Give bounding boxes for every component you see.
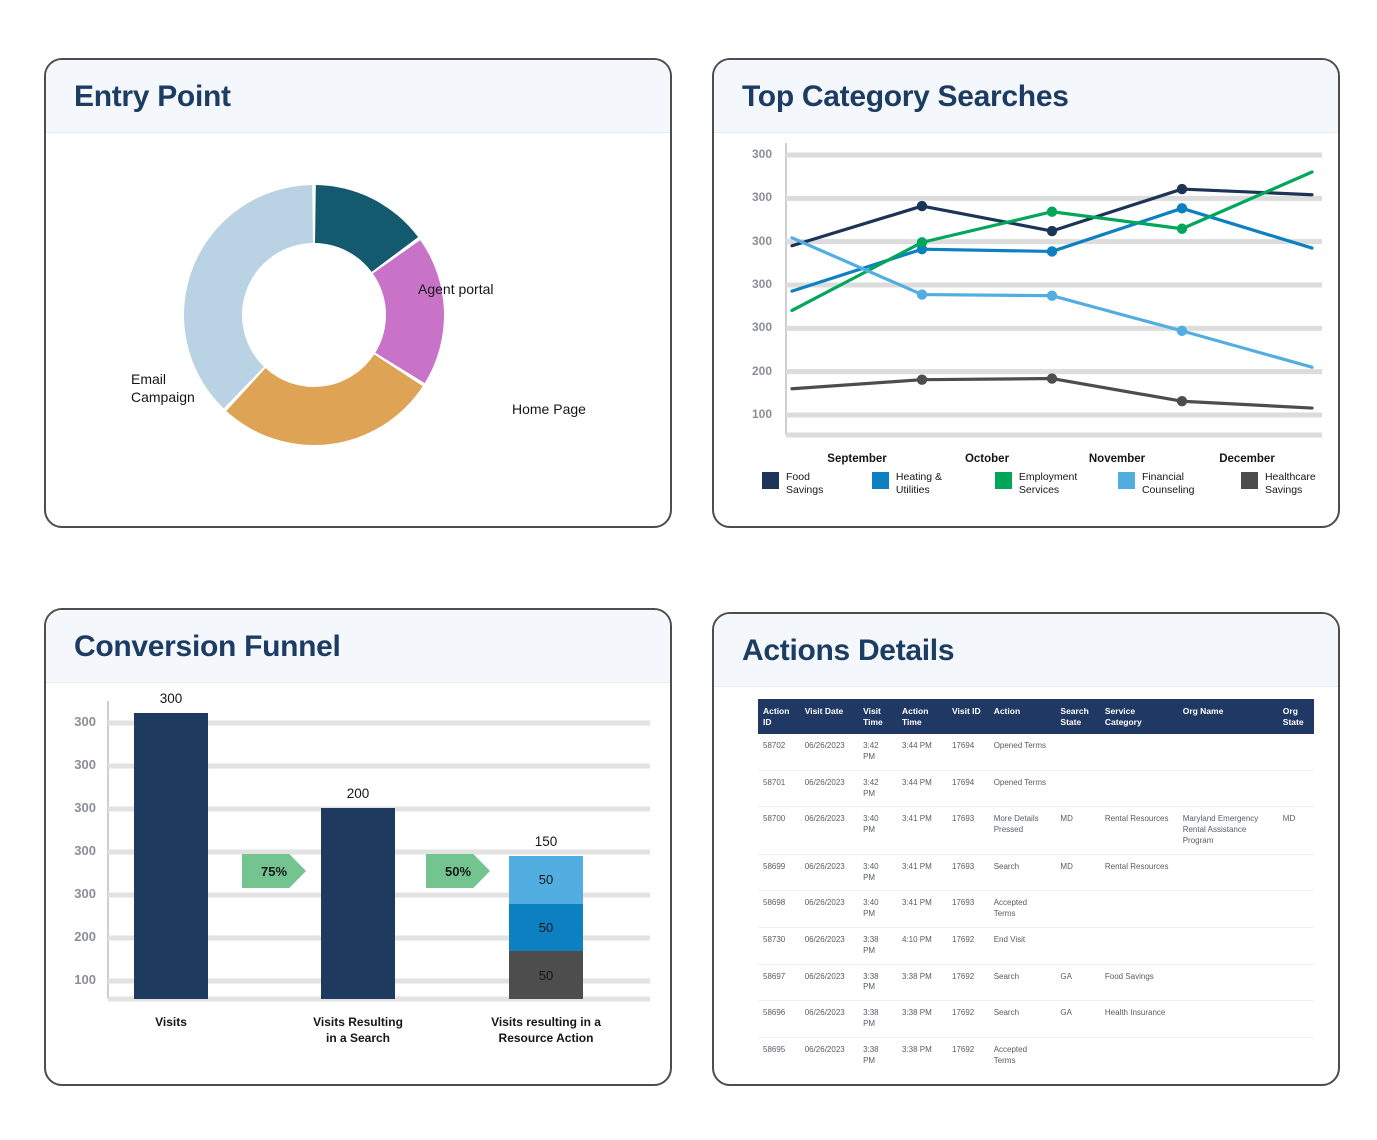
line-chart-y-tick: 300	[738, 320, 772, 334]
legend-item-healthcare-savings[interactable]: Healthcare Savings	[1241, 471, 1338, 496]
line-chart-y-tick: 300	[738, 277, 772, 291]
legend-label: Food Savings	[786, 471, 846, 496]
table-column-header[interactable]: Action	[989, 699, 1056, 734]
table-row[interactable]: 5869906/26/20233:40 PM3:41 PM17693Search…	[758, 854, 1314, 891]
card-header-actions: Actions Details	[714, 614, 1338, 687]
line-chart-y-tick: 300	[738, 190, 772, 204]
data-point[interactable]	[1177, 224, 1187, 234]
table-cell: 06/26/2023	[800, 1001, 858, 1038]
table-column-header[interactable]: Action Time	[897, 699, 947, 734]
table-cell	[1178, 891, 1278, 928]
table-cell: 06/26/2023	[800, 770, 858, 807]
table-cell: MD	[1055, 807, 1099, 854]
card-top-category-searches: Top Category Searches 300300300300300200…	[712, 58, 1340, 528]
table-cell: 17692	[947, 928, 989, 965]
data-point[interactable]	[1177, 184, 1187, 194]
table-cell: 3:38 PM	[897, 1037, 947, 1067]
funnel-bar-visits[interactable]	[134, 713, 208, 999]
funnel-stack-segment[interactable]: 50	[509, 856, 583, 904]
table-column-header[interactable]: Service Category	[1100, 699, 1178, 734]
page-title-top-category: Top Category Searches	[742, 80, 1310, 114]
page-title-entry-point: Entry Point	[74, 80, 642, 114]
funnel-y-tick: 100	[60, 972, 96, 987]
table-cell	[1100, 734, 1178, 770]
legend-item-food-savings[interactable]: Food Savings	[762, 471, 846, 496]
funnel-bar-visits-with-search[interactable]	[321, 808, 395, 999]
table-cell: MD	[1278, 807, 1314, 854]
legend-label: Employment Services	[1019, 471, 1092, 496]
top-category-line-chart: 300300300300300200100 SeptemberOctoberNo…	[714, 133, 1338, 513]
table-cell: 3:42 PM	[858, 734, 897, 770]
table-cell: 3:38 PM	[858, 1001, 897, 1038]
funnel-y-tick: 300	[60, 886, 96, 901]
funnel-y-tick: 300	[60, 757, 96, 772]
table-cell: 3:40 PM	[858, 891, 897, 928]
table-cell: 17692	[947, 1037, 989, 1067]
table-cell: 17693	[947, 854, 989, 891]
legend-swatch	[1118, 472, 1135, 489]
funnel-y-tick: 300	[60, 714, 96, 729]
table-row[interactable]: 5869606/26/20233:38 PM3:38 PM17692Search…	[758, 1001, 1314, 1038]
data-point[interactable]	[1047, 226, 1057, 236]
analytics-dashboard: Entry Point Agent portal Home Page Resou…	[0, 0, 1377, 1140]
data-point[interactable]	[1047, 291, 1057, 301]
card-entry-point: Entry Point Agent portal Home Page Resou…	[44, 58, 672, 528]
table-cell: 06/26/2023	[800, 1037, 858, 1067]
table-cell: Rental Resources	[1100, 807, 1178, 854]
line-chart-y-tick: 300	[738, 234, 772, 248]
table-cell: 58702	[758, 734, 800, 770]
table-cell	[1178, 854, 1278, 891]
data-point[interactable]	[1177, 396, 1187, 406]
line-series-financial-counseling[interactable]	[792, 238, 1312, 367]
table-cell: Search	[989, 854, 1056, 891]
legend-swatch	[762, 472, 779, 489]
table-cell	[1055, 891, 1099, 928]
legend-label: Healthcare Savings	[1265, 471, 1338, 496]
table-cell: Accepted Terms	[989, 1037, 1056, 1067]
table-cell	[1178, 964, 1278, 1001]
table-cell: 17693	[947, 891, 989, 928]
table-cell	[1178, 1001, 1278, 1038]
table-cell: End Visit	[989, 928, 1056, 965]
data-point[interactable]	[1047, 207, 1057, 217]
donut-svg	[46, 133, 670, 511]
table-cell: 06/26/2023	[800, 964, 858, 1001]
card-body-funnel: 300300300300300200100 30020015050505075%…	[46, 683, 670, 1073]
table-cell	[1178, 734, 1278, 770]
table-cell: 17692	[947, 1001, 989, 1038]
card-conversion-funnel: Conversion Funnel 300300300300300200100 …	[44, 608, 672, 1086]
table-cell	[1278, 928, 1314, 965]
table-cell: 3:41 PM	[897, 807, 947, 854]
table-row[interactable]: 5873006/26/20233:38 PM4:10 PM17692End Vi…	[758, 928, 1314, 965]
table-cell: Food Savings	[1100, 964, 1178, 1001]
data-point[interactable]	[917, 237, 927, 247]
table-cell	[1278, 854, 1314, 891]
actions-table-body: 5870206/26/20233:42 PM3:44 PM17694Opened…	[758, 734, 1314, 1067]
actions-table-scroll[interactable]: Action IDVisit DateVisit TimeAction Time…	[758, 699, 1314, 1067]
donut-label-agent-portal: Agent portal	[418, 281, 494, 299]
card-header-entry-point: Entry Point	[46, 60, 670, 133]
card-header-top-category: Top Category Searches	[714, 60, 1338, 133]
table-cell: 58695	[758, 1037, 800, 1067]
table-cell: MD	[1055, 854, 1099, 891]
funnel-value-label: 300	[121, 691, 221, 706]
table-cell: 3:41 PM	[897, 891, 947, 928]
table-row[interactable]: 5870206/26/20233:42 PM3:44 PM17694Opened…	[758, 734, 1314, 770]
table-cell: 06/26/2023	[800, 891, 858, 928]
table-cell: 17694	[947, 734, 989, 770]
table-cell: GA	[1055, 964, 1099, 1001]
legend-label: Financial Counseling	[1142, 471, 1215, 496]
legend-item-financial-counseling[interactable]: Financial Counseling	[1118, 471, 1215, 496]
funnel-stack-segment[interactable]: 50	[509, 951, 583, 999]
table-cell: 06/26/2023	[800, 854, 858, 891]
table-cell: GA	[1055, 1001, 1099, 1038]
donut-label-email-campaign: Email Campaign	[131, 371, 195, 406]
line-chart-svg	[714, 133, 1338, 463]
table-cell: Accepted Terms	[989, 891, 1056, 928]
card-body-top-category: 300300300300300200100 SeptemberOctoberNo…	[714, 133, 1338, 513]
table-row[interactable]: 5869506/26/20233:38 PM3:38 PM17692Accept…	[758, 1037, 1314, 1067]
table-cell	[1100, 928, 1178, 965]
table-cell: 3:38 PM	[858, 964, 897, 1001]
table-cell	[1178, 1037, 1278, 1067]
table-column-header[interactable]: Visit Date	[800, 699, 858, 734]
table-row[interactable]: 5869706/26/20233:38 PM3:38 PM17692Search…	[758, 964, 1314, 1001]
table-cell: 58699	[758, 854, 800, 891]
card-actions-details: Actions Details Action IDVisit DateVisit…	[712, 612, 1340, 1086]
table-cell: 17692	[947, 964, 989, 1001]
table-cell: 3:38 PM	[897, 1001, 947, 1038]
funnel-y-tick: 200	[60, 929, 96, 944]
table-cell: 3:40 PM	[858, 807, 897, 854]
table-cell: 17694	[947, 770, 989, 807]
legend-label: Heating & Utilities	[896, 471, 969, 496]
line-chart-y-tick: 100	[738, 407, 772, 421]
table-cell: 3:44 PM	[897, 734, 947, 770]
table-cell	[1278, 734, 1314, 770]
legend-item-employment-services[interactable]: Employment Services	[995, 471, 1092, 496]
data-point[interactable]	[1177, 326, 1187, 336]
table-cell: Rental Resources	[1100, 854, 1178, 891]
table-cell: 06/26/2023	[800, 928, 858, 965]
funnel-value-label: 150	[496, 834, 596, 849]
table-cell: 58730	[758, 928, 800, 965]
line-chart-x-tick: December	[1197, 453, 1297, 465]
table-row[interactable]: 5869806/26/20233:40 PM3:41 PM17693Accept…	[758, 891, 1314, 928]
funnel-value-label: 200	[308, 786, 408, 801]
table-cell: 3:42 PM	[858, 770, 897, 807]
table-column-header[interactable]: Search State	[1055, 699, 1099, 734]
funnel-x-tick: Visits resulting in a Resource Action	[456, 1015, 636, 1046]
legend-item-heating-utilities[interactable]: Heating & Utilities	[872, 471, 969, 496]
table-cell	[1278, 891, 1314, 928]
page-title-funnel: Conversion Funnel	[74, 630, 642, 664]
table-cell: 06/26/2023	[800, 734, 858, 770]
table-cell	[1055, 734, 1099, 770]
table-column-header[interactable]: Org Name	[1178, 699, 1278, 734]
table-cell	[1055, 928, 1099, 965]
table-cell	[1055, 770, 1099, 807]
table-cell: Search	[989, 1001, 1056, 1038]
table-cell: 58696	[758, 1001, 800, 1038]
table-column-header[interactable]: Visit ID	[947, 699, 989, 734]
table-row[interactable]: 5870006/26/20233:40 PM3:41 PM17693More D…	[758, 807, 1314, 854]
donut-slice-email-campaign[interactable]	[184, 185, 313, 409]
line-chart-x-tick: November	[1067, 453, 1167, 465]
table-cell: Health Insurance	[1100, 1001, 1178, 1038]
table-column-header[interactable]: Org State	[1278, 699, 1314, 734]
table-cell	[1278, 1037, 1314, 1067]
table-cell: Opened Terms	[989, 734, 1056, 770]
table-cell: Search	[989, 964, 1056, 1001]
table-cell	[1278, 964, 1314, 1001]
line-chart-x-tick: October	[937, 453, 1037, 465]
table-cell	[1100, 770, 1178, 807]
table-cell	[1178, 770, 1278, 807]
line-chart-legend: Food SavingsHeating & UtilitiesEmploymen…	[762, 471, 1338, 496]
table-cell	[1055, 1037, 1099, 1067]
legend-swatch	[1241, 472, 1258, 489]
table-cell: 58698	[758, 891, 800, 928]
table-cell: 06/26/2023	[800, 807, 858, 854]
legend-swatch	[995, 472, 1012, 489]
table-cell: 3:38 PM	[858, 1037, 897, 1067]
line-chart-y-tick: 300	[738, 147, 772, 161]
table-column-header[interactable]: Action ID	[758, 699, 800, 734]
actions-table-head: Action IDVisit DateVisit TimeAction Time…	[758, 699, 1314, 734]
data-point[interactable]	[917, 201, 927, 211]
data-point[interactable]	[1177, 203, 1187, 213]
entry-point-donut-chart: Agent portal Home Page Resource page Ema…	[46, 133, 670, 511]
table-cell: 58700	[758, 807, 800, 854]
table-cell: 3:40 PM	[858, 854, 897, 891]
table-cell: 3:38 PM	[858, 928, 897, 965]
donut-label-home-page: Home Page	[512, 401, 586, 419]
table-cell	[1278, 1001, 1314, 1038]
table-cell	[1100, 1037, 1178, 1067]
data-point[interactable]	[1047, 246, 1057, 256]
card-body-entry-point: Agent portal Home Page Resource page Ema…	[46, 133, 670, 511]
data-point[interactable]	[1047, 373, 1057, 383]
data-point[interactable]	[917, 289, 927, 299]
table-cell	[1178, 928, 1278, 965]
funnel-y-tick: 300	[60, 843, 96, 858]
table-cell: 17693	[947, 807, 989, 854]
table-row[interactable]: 5870106/26/20233:42 PM3:44 PM17694Opened…	[758, 770, 1314, 807]
table-cell: Opened Terms	[989, 770, 1056, 807]
table-cell	[1278, 770, 1314, 807]
table-cell: 58697	[758, 964, 800, 1001]
line-chart-x-tick: September	[807, 453, 907, 465]
line-chart-y-tick: 200	[738, 364, 772, 378]
table-cell: 3:38 PM	[897, 964, 947, 1001]
table-column-header[interactable]: Visit Time	[858, 699, 897, 734]
table-cell: 3:44 PM	[897, 770, 947, 807]
page-title-actions: Actions Details	[742, 634, 1310, 668]
card-header-funnel: Conversion Funnel	[46, 610, 670, 683]
funnel-x-tick: Visits Resulting in a Search	[268, 1015, 448, 1046]
table-header-row: Action IDVisit DateVisit TimeAction Time…	[758, 699, 1314, 734]
table-cell: More Details Pressed	[989, 807, 1056, 854]
table-cell: 58701	[758, 770, 800, 807]
table-cell: Maryland Emergency Rental Assistance Pro…	[1178, 807, 1278, 854]
legend-swatch	[872, 472, 889, 489]
data-point[interactable]	[917, 374, 927, 384]
funnel-x-tick: Visits	[81, 1015, 261, 1031]
funnel-y-tick: 300	[60, 800, 96, 815]
conversion-funnel-chart: 300300300300300200100 30020015050505075%…	[46, 683, 670, 1073]
actions-table: Action IDVisit DateVisit TimeAction Time…	[758, 699, 1314, 1067]
funnel-stack-segment[interactable]: 50	[509, 904, 583, 952]
table-cell: 3:41 PM	[897, 854, 947, 891]
table-cell	[1100, 891, 1178, 928]
table-cell: 4:10 PM	[897, 928, 947, 965]
